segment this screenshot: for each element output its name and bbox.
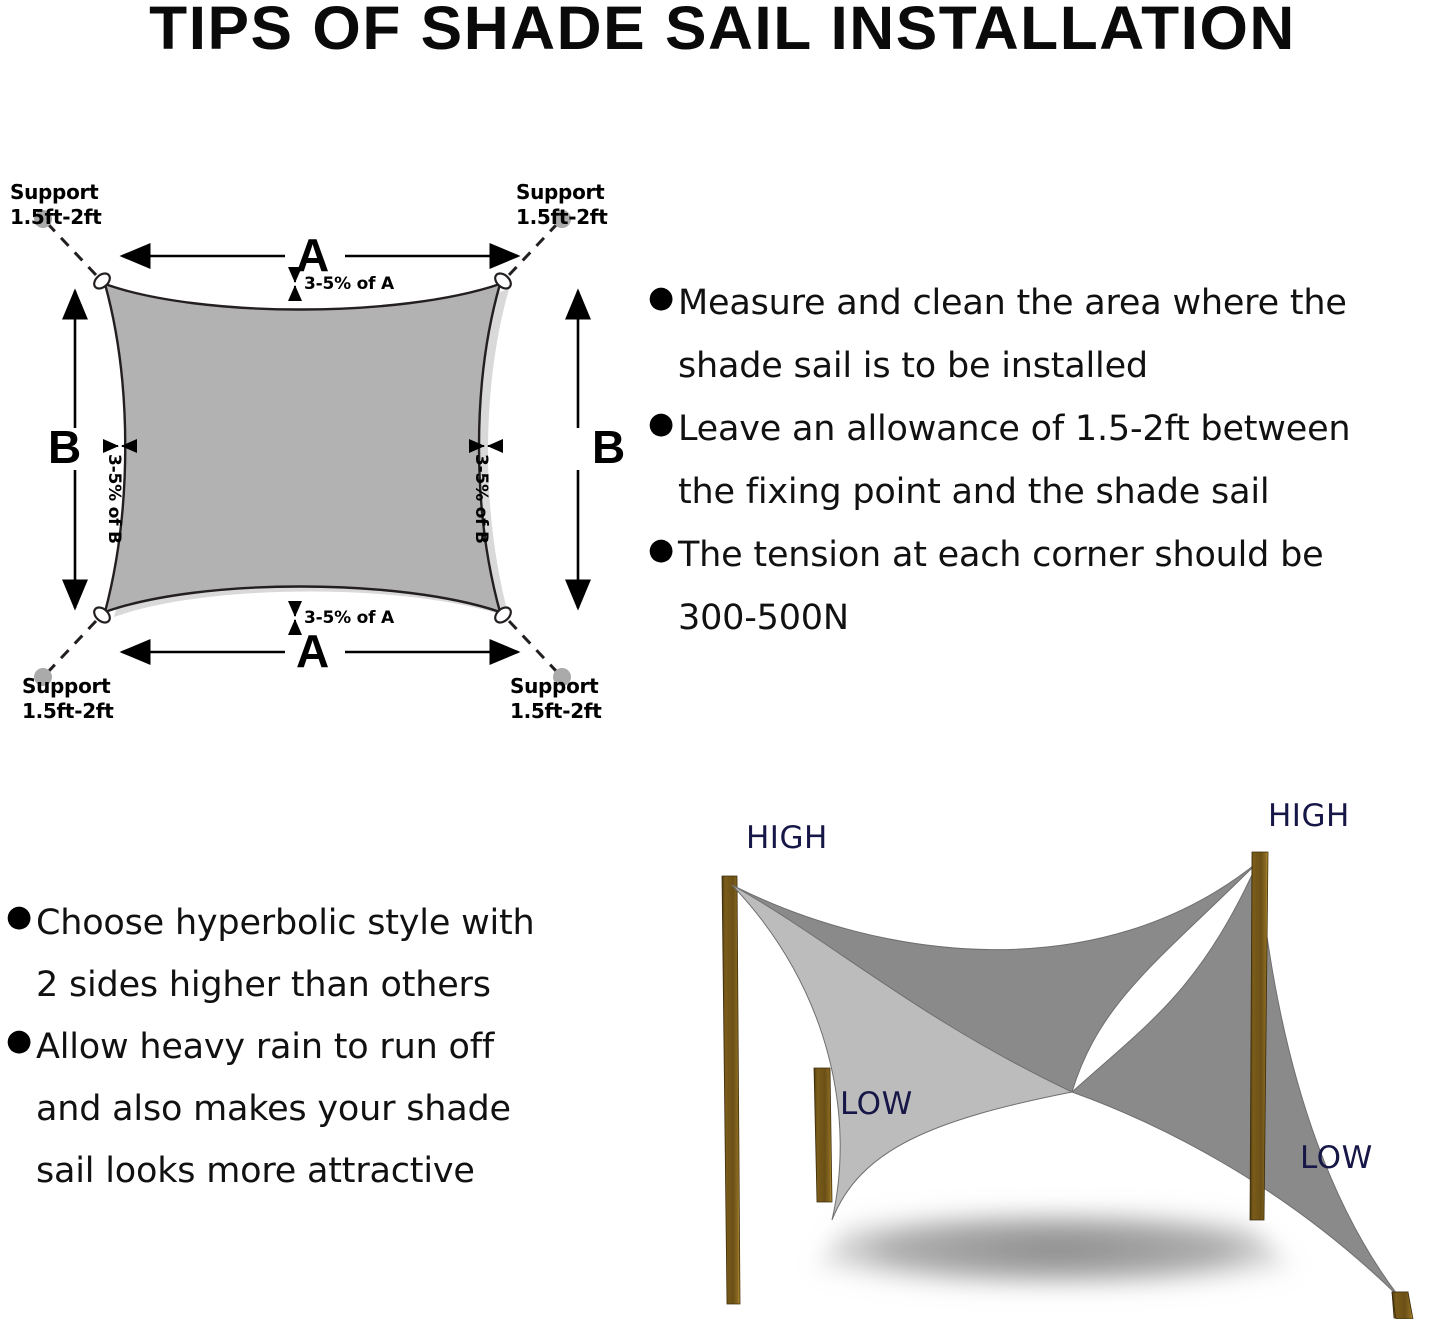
bullet-dot-icon: ● — [648, 524, 678, 565]
hyperbolic-sail-diagram: HIGH HIGH LOW LOW — [680, 790, 1445, 1319]
list-item: ● Choose hyperbolic style with 2 sides h… — [6, 892, 626, 1016]
curve-label-top: 3-5% of A — [304, 276, 394, 293]
tips-list-left: ● Choose hyperbolic style with 2 sides h… — [6, 892, 626, 1202]
tether-bottom-left — [47, 621, 96, 673]
list-item: ● Measure and clean the area where the s… — [648, 272, 1445, 398]
bullet-dot-icon: ● — [6, 1016, 36, 1056]
list-item-text: Measure and clean the area where the sha… — [678, 272, 1445, 398]
list-item-line: sail looks more attractive — [36, 1151, 475, 1191]
ground-shadow — [798, 1210, 1314, 1288]
dimension-label-a-top: A — [296, 232, 329, 278]
rectangular-sail-diagram: Support1.5ft-2ft Support1.5ft-2ft Suppor… — [0, 150, 660, 750]
label-high-right: HIGH — [1268, 798, 1350, 834]
support-label-line1: Support — [516, 180, 604, 204]
list-item-line: The tension at each corner should be — [678, 535, 1323, 575]
support-label-top-left: Support1.5ft-2ft — [10, 180, 101, 230]
list-item-line: shade sail is to be installed — [678, 346, 1148, 386]
list-item-line: the fixing point and the shade sail — [678, 472, 1269, 512]
tether-top-left — [47, 223, 96, 275]
list-item: ● The tension at each corner should be 3… — [648, 524, 1445, 650]
list-item-text: The tension at each corner should be 300… — [678, 524, 1445, 650]
tips-list-right: ● Measure and clean the area where the s… — [648, 272, 1445, 650]
list-item: ● Allow heavy rain to run off and also m… — [6, 1016, 626, 1202]
support-label-bottom-left: Support1.5ft-2ft — [22, 674, 113, 724]
list-item-line: and also makes your shade — [36, 1089, 511, 1129]
support-label-line2: 1.5ft-2ft — [22, 699, 113, 723]
bullet-dot-icon: ● — [6, 892, 36, 932]
bullet-dot-icon: ● — [648, 272, 678, 313]
support-label-line2: 1.5ft-2ft — [516, 205, 607, 229]
post-high-left — [722, 876, 740, 1304]
page-title: TIPS OF SHADE SAIL INSTALLATION — [0, 0, 1445, 60]
list-item-line: Choose hyperbolic style with — [36, 903, 535, 943]
list-item-text: Leave an allowance of 1.5-2ft between th… — [678, 398, 1445, 524]
post-low-right-lower — [1392, 1292, 1413, 1319]
list-item-text: Allow heavy rain to run off and also mak… — [36, 1016, 626, 1202]
support-label-line1: Support — [510, 674, 598, 698]
curve-label-right: 3-5% of B — [472, 454, 489, 544]
list-item: ● Leave an allowance of 1.5-2ft between … — [648, 398, 1445, 524]
bullet-dot-icon: ● — [648, 398, 678, 439]
support-label-line2: 1.5ft-2ft — [10, 205, 101, 229]
list-item-line: Measure and clean the area where the — [678, 283, 1347, 323]
curve-label-left: 3-5% of B — [105, 454, 122, 544]
tether-bottom-right — [509, 621, 558, 673]
tether-top-right — [509, 223, 558, 275]
rect-diagram-svg — [0, 150, 660, 750]
label-high-left: HIGH — [746, 820, 828, 856]
list-item-line: 300-500N — [678, 598, 849, 638]
dimension-label-b-right: B — [592, 424, 625, 470]
list-item-line: Leave an allowance of 1.5-2ft between — [678, 409, 1350, 449]
hyperbolic-diagram-svg — [680, 790, 1445, 1319]
sail-shape — [105, 284, 500, 612]
dimension-label-b-left: B — [48, 424, 81, 470]
dimension-label-a-bottom: A — [296, 628, 329, 674]
support-label-line2: 1.5ft-2ft — [510, 699, 601, 723]
post-low-left — [814, 1068, 832, 1202]
list-item-text: Choose hyperbolic style with 2 sides hig… — [36, 892, 626, 1016]
support-label-line1: Support — [10, 180, 98, 204]
label-low-right: LOW — [1300, 1140, 1373, 1176]
support-label-top-right: Support1.5ft-2ft — [516, 180, 607, 230]
list-item-line: Allow heavy rain to run off — [36, 1027, 494, 1067]
curve-label-bottom: 3-5% of A — [304, 610, 394, 627]
label-low-left: LOW — [840, 1086, 913, 1122]
list-item-line: 2 sides higher than others — [36, 965, 491, 1005]
support-label-line1: Support — [22, 674, 110, 698]
support-label-bottom-right: Support1.5ft-2ft — [510, 674, 601, 724]
